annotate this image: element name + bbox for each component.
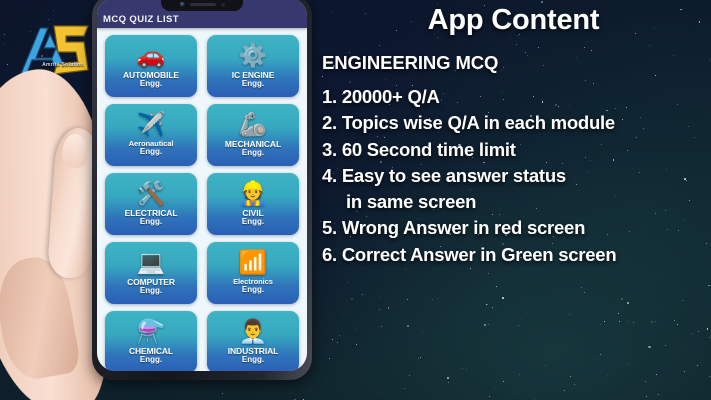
camera-icon (180, 2, 185, 7)
phone-notch (161, 0, 243, 11)
engineer-icon: 👨‍💼 (207, 315, 299, 347)
quiz-tile-computer[interactable]: 💻COMPUTEREngg. (105, 242, 197, 304)
quiz-tile-label-secondary: Engg. (207, 286, 299, 294)
speaker-grille-icon (190, 3, 216, 7)
airplane-icon: ✈️ (105, 108, 197, 140)
gear-worker-icon: 🦾 (207, 108, 299, 140)
quiz-tile-mechanical[interactable]: 🦾MECHANICALEngg. (207, 104, 299, 166)
quiz-tile-industrial[interactable]: 👨‍💼INDUSTRIALEngg. (207, 311, 299, 371)
engine-icon: ⚙️ (207, 39, 299, 71)
circuit-icon: 📶 (207, 246, 299, 278)
quiz-tile-electronics[interactable]: 📶ElectronicsEngg. (207, 242, 299, 304)
feature-list-item: 2. Topics wise Q/A in each module (322, 110, 711, 136)
quiz-category-grid[interactable]: 🚗AUTOMOBILEEngg.⚙️IC ENGINEEngg.✈️Aerona… (97, 28, 307, 371)
quiz-tile-label-secondary: Engg. (105, 218, 197, 226)
content-panel: App Content ENGINEERING MCQ 1. 20000+ Q/… (316, 0, 711, 400)
hardhat-blueprint-icon: 👷 (207, 177, 299, 209)
thumbnail (62, 134, 88, 168)
logo-tagline: Amrita Solution (32, 62, 94, 68)
app-bar-title: MCQ QUIZ LIST (103, 14, 179, 25)
quiz-tile-label-secondary: Engg. (207, 149, 299, 157)
feature-list-item: in same screen (322, 189, 711, 215)
flask-icon: ⚗️ (105, 315, 197, 347)
quiz-tile-label-secondary: Engg. (207, 80, 299, 88)
quiz-tile-label-secondary: Engg. (105, 356, 197, 364)
quiz-tile-label-secondary: Engg. (207, 356, 299, 364)
quiz-tile-label-secondary: Engg. (105, 287, 197, 295)
page-title: App Content (316, 4, 711, 37)
feature-list: 1. 20000+ Q/A2. Topics wise Q/A in each … (322, 84, 711, 268)
red-car-icon: 🚗 (105, 39, 197, 71)
phone-screen: MCQ QUIZ LIST 🚗AUTOMOBILEEngg.⚙️IC ENGIN… (97, 0, 307, 371)
quiz-tile-electrical[interactable]: 🛠️ELECTRICALEngg. (105, 173, 197, 235)
feature-list-item: 5. Wrong Answer in red screen (322, 215, 711, 241)
quiz-tile-ic-engine[interactable]: ⚙️IC ENGINEEngg. (207, 35, 299, 97)
quiz-tile-label-secondary: Engg. (207, 218, 299, 226)
hardhat-tools-icon: 🛠️ (105, 177, 197, 209)
proximity-sensor-icon (221, 3, 225, 7)
quiz-tile-chemical[interactable]: ⚗️CHEMICALEngg. (105, 311, 197, 371)
quiz-tile-automobile[interactable]: 🚗AUTOMOBILEEngg. (105, 35, 197, 97)
feature-list-item: 1. 20000+ Q/A (322, 84, 711, 110)
content-subtitle: ENGINEERING MCQ (322, 52, 498, 74)
laptop-icon: 💻 (105, 246, 197, 278)
quiz-tile-label-secondary: Engg. (105, 148, 197, 156)
phone-mockup: MCQ QUIZ LIST 🚗AUTOMOBILEEngg.⚙️IC ENGIN… (92, 0, 312, 380)
feature-list-item: 6. Correct Answer in Green screen (322, 242, 711, 268)
quiz-tile-aeronautical[interactable]: ✈️AeronauticalEngg. (105, 104, 197, 166)
quiz-tile-civil[interactable]: 👷CIVILEngg. (207, 173, 299, 235)
feature-list-item: 3. 60 Second time limit (322, 137, 711, 163)
quiz-tile-label-secondary: Engg. (105, 80, 197, 88)
feature-list-item: 4. Easy to see answer status (322, 163, 711, 189)
